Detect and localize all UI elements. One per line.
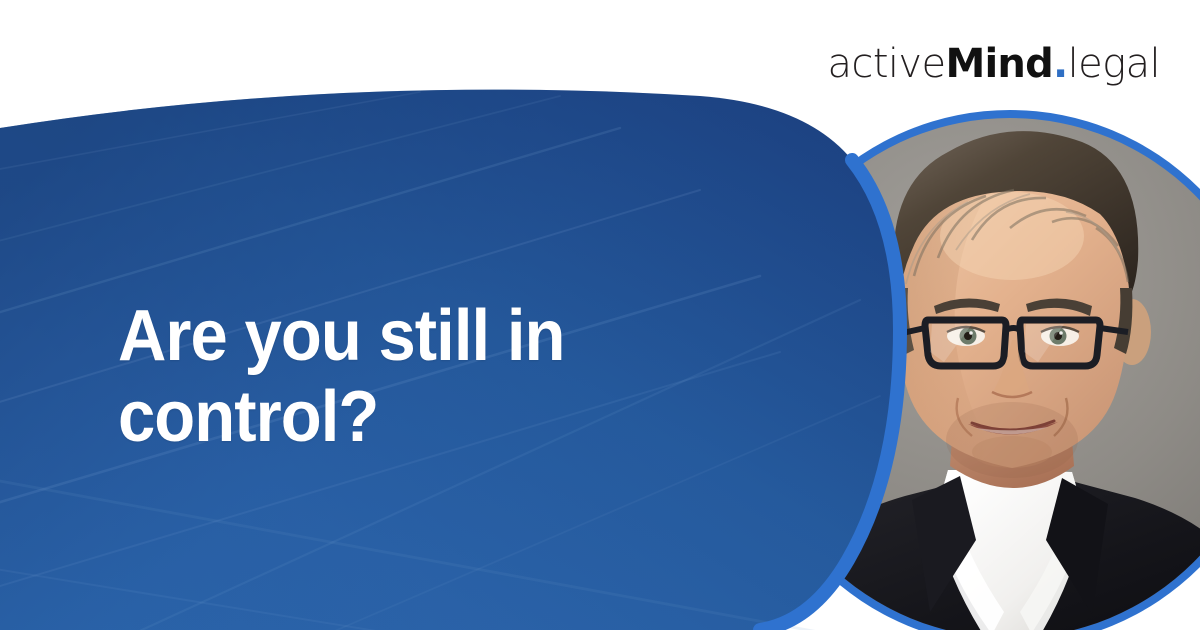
headline: Are you still in control? xyxy=(118,296,695,459)
headline-line-2: control? xyxy=(118,377,695,458)
headline-line-1: Are you still in xyxy=(118,296,695,377)
logo-text-mind: Mind xyxy=(946,44,1053,84)
brand-logo[interactable]: activeMind.legal xyxy=(828,44,1160,84)
stubble xyxy=(946,402,1078,478)
logo-dot: . xyxy=(1053,44,1068,84)
logo-text-active: active xyxy=(828,44,946,84)
logo-text-legal: legal xyxy=(1068,44,1160,84)
banner-canvas: activeMind.legal Are you still in contro… xyxy=(0,0,1200,630)
